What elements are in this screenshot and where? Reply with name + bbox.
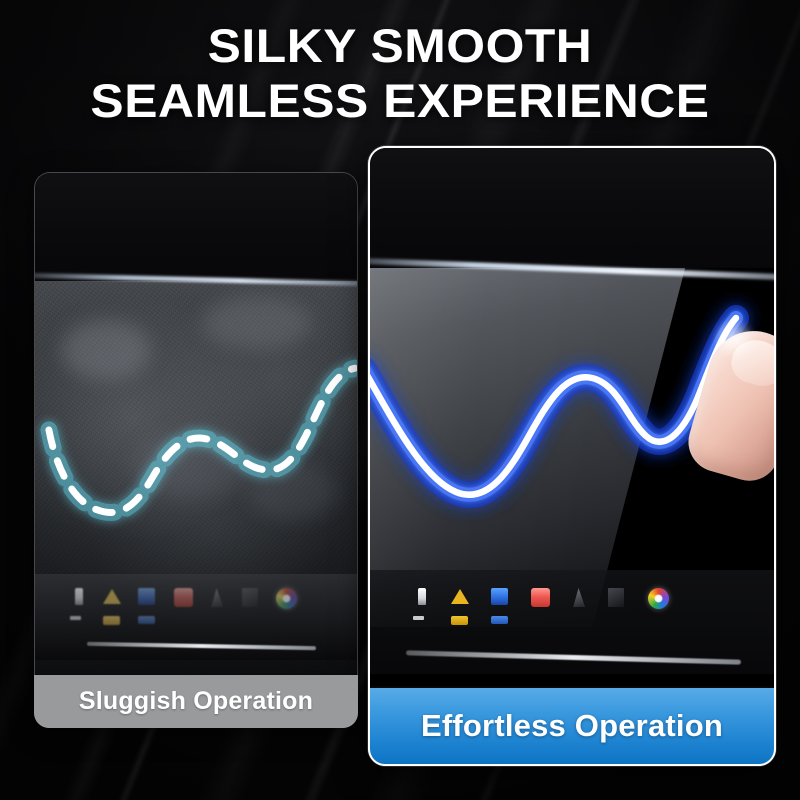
comparison-panel-sluggish[interactable] — [34, 172, 358, 728]
effortless-dock — [370, 570, 774, 674]
triangle-icon[interactable] — [451, 588, 468, 605]
headline-line-2: SEAMLESS EXPERIENCE — [0, 77, 800, 125]
comparison-panel-effortless[interactable] — [368, 146, 776, 766]
red-app-icon[interactable] — [531, 588, 550, 607]
triangle-icon-base — [451, 616, 468, 625]
sluggish-dock — [35, 574, 357, 660]
product-comparison-poster: SILKY SMOOTH SEAMLESS EXPERIENCE — [0, 0, 800, 800]
stylus-icon-base — [413, 616, 424, 620]
chrome-browser-icon[interactable] — [276, 588, 297, 609]
stylus-icon-base — [70, 616, 81, 620]
sluggish-dock-icons — [67, 588, 331, 609]
grey-panel-icon[interactable] — [242, 588, 258, 607]
blue-app-icon-base — [491, 616, 508, 624]
stylus-icon[interactable] — [410, 588, 427, 605]
red-app-icon[interactable] — [174, 588, 193, 607]
chrome-browser-icon[interactable] — [648, 588, 669, 609]
headline-line-1: SILKY SMOOTH — [0, 22, 800, 70]
blue-app-icon-base — [138, 616, 155, 624]
headline: SILKY SMOOTH SEAMLESS EXPERIENCE — [0, 22, 800, 125]
grey-app-icon[interactable] — [573, 588, 585, 607]
triangle-icon-base — [103, 616, 120, 625]
stylus-icon[interactable] — [67, 588, 84, 605]
caption-sluggish-operation: Sluggish Operation — [34, 675, 358, 728]
effortless-dock-icons — [410, 588, 741, 609]
caption-effortless-operation: Effortless Operation — [368, 688, 776, 766]
blue-app-icon[interactable] — [491, 588, 508, 605]
effortless-device-photo — [370, 148, 774, 686]
triangle-icon[interactable] — [103, 588, 120, 605]
grey-app-icon[interactable] — [211, 588, 223, 607]
blue-app-icon[interactable] — [138, 588, 155, 605]
grey-panel-icon[interactable] — [608, 588, 624, 607]
sluggish-device-photo — [35, 173, 357, 674]
